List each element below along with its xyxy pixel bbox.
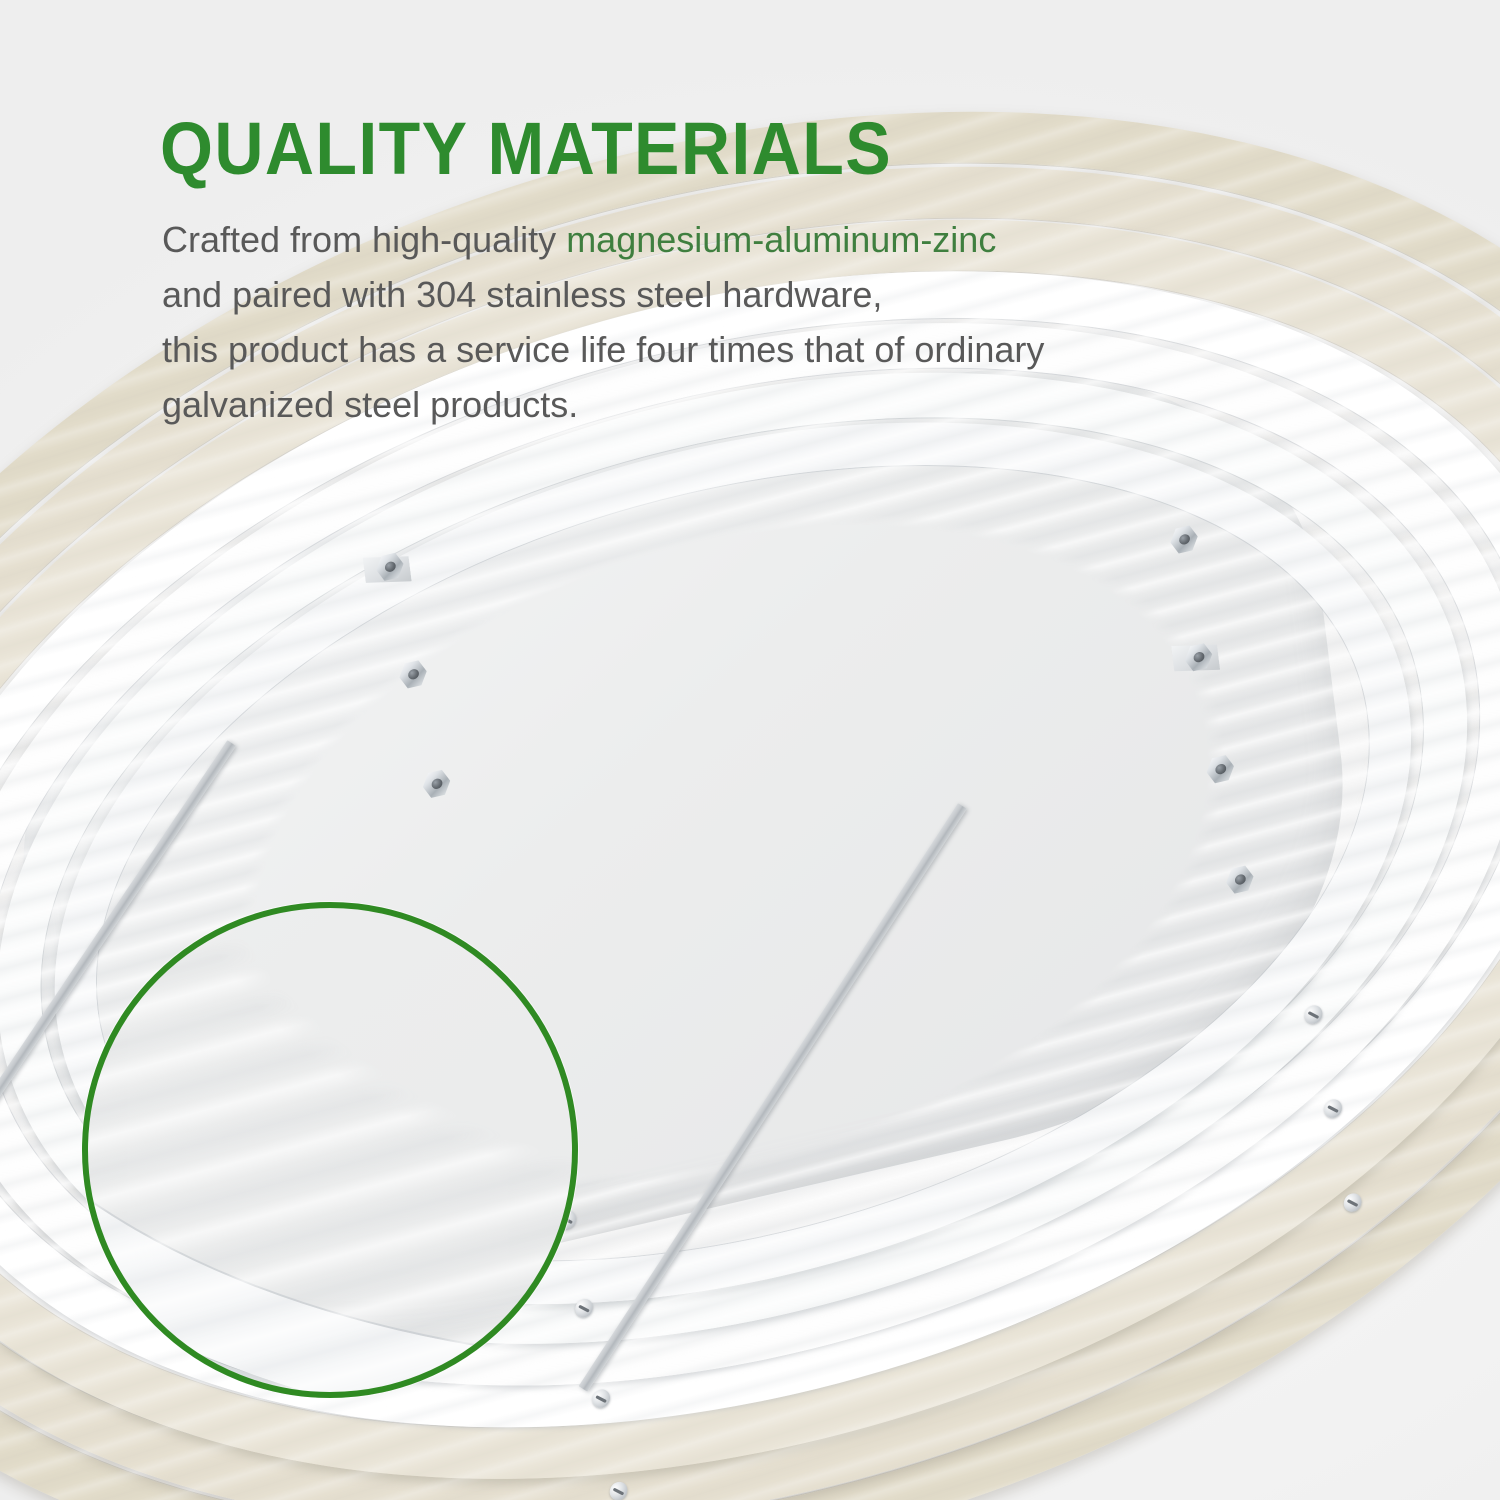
highlighted-material-name: magnesium-aluminum-zinc (566, 219, 996, 260)
page-title: QUALITY MATERIALS (160, 112, 892, 186)
description-line-3: this product has a service life four tim… (162, 322, 1282, 377)
description-text: and paired with 304 stainless steel hard… (162, 274, 882, 315)
description-text: Crafted from high-quality (162, 219, 566, 260)
description-line-4: galvanized steel products. (162, 377, 1282, 432)
magnified-bed-geometry (82, 902, 578, 1398)
detail-magnifier-callout (82, 902, 578, 1398)
description-text: galvanized steel products. (162, 384, 578, 425)
description-text: this product has a service life four tim… (162, 329, 1044, 370)
description-paragraph: Crafted from high-quality magnesium-alum… (162, 212, 1282, 432)
description-line-1: Crafted from high-quality magnesium-alum… (162, 212, 1282, 267)
description-line-2: and paired with 304 stainless steel hard… (162, 267, 1282, 322)
product-feature-image: QUALITY MATERIALS Crafted from high-qual… (0, 0, 1500, 1500)
white-rim-band-4 (82, 902, 578, 1398)
magnified-detail-view (82, 902, 578, 1398)
